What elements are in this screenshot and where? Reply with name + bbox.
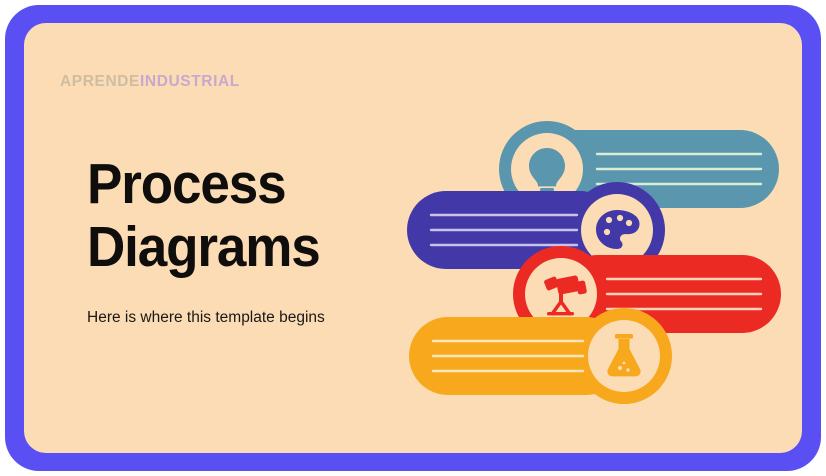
slide-card: APRENDEINDUSTRIAL Process Diagrams Here … bbox=[24, 23, 802, 453]
slide-frame: APRENDEINDUSTRIAL Process Diagrams Here … bbox=[5, 5, 821, 471]
page-title-line2: Diagrams bbox=[87, 216, 394, 279]
page-title-line1: Process bbox=[87, 153, 394, 216]
page-subtitle: Here is where this template begins bbox=[87, 309, 325, 327]
process-step-4[interactable] bbox=[409, 308, 672, 404]
process-diagram-illustration bbox=[399, 118, 789, 408]
brand-logo-part2: INDUSTRIAL bbox=[140, 73, 240, 90]
brand-logo: APRENDEINDUSTRIAL bbox=[60, 73, 240, 91]
brand-logo-part1: APRENDE bbox=[60, 73, 140, 90]
page-title: Process Diagrams bbox=[87, 153, 417, 279]
